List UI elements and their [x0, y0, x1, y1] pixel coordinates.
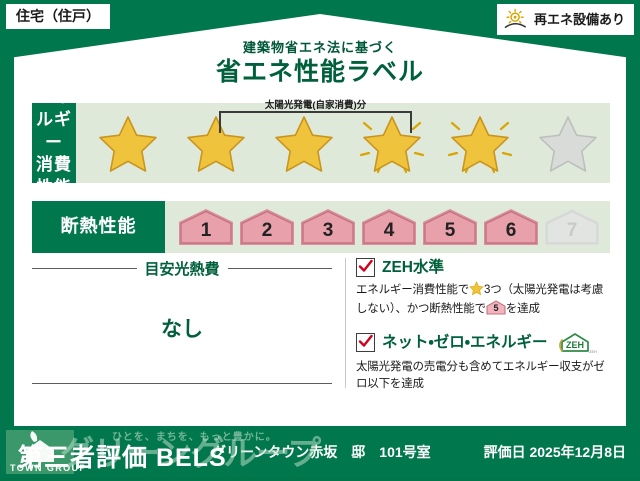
title-block: 建築物省エネ法に基づく 省エネ性能ラベル	[0, 40, 640, 88]
vertical-divider	[345, 258, 346, 388]
watermark-bels-text: 第三者評価 BELS	[18, 438, 227, 474]
sun-icon	[503, 8, 529, 30]
insulation-badge-number: 1	[201, 221, 212, 247]
energy-performance-key: エネルギー 消費性能	[32, 103, 76, 183]
zeh-desc-part3: を達成	[506, 303, 540, 315]
solar-caption: 太陽光発電(自家消費)分	[219, 97, 412, 111]
insulation-badge-active: 1	[177, 207, 235, 247]
cost-rule-left	[32, 268, 137, 269]
insulation-performance-value: 1234567	[165, 201, 610, 253]
insulation-badge-number: 3	[323, 221, 334, 247]
zeh-netzero-label: ネット・ゼロ・エネルギー	[382, 335, 548, 351]
insulation-badge-active: 3	[299, 207, 357, 247]
insulation-performance-row: 断熱性能 1234567	[32, 201, 610, 253]
cost-heading: 目安光熱費	[32, 258, 332, 279]
title-subtitle: 建築物省エネ法に基づく	[0, 40, 640, 56]
zeh-item-standard: ZEH水準 エネルギー消費性能で3つ（太陽光発電は考慮しない）、かつ断熱性能で5…	[356, 258, 614, 319]
energy-performance-label: 住宅（住戸） 再エネ設備あり 建築物省エネ法に基づく	[0, 0, 640, 478]
svg-text:ZEH: ZEH	[589, 349, 597, 354]
inline-star-icon	[469, 281, 484, 296]
star-filled	[86, 110, 170, 176]
inline-insulation-badge-icon: 5	[486, 300, 506, 315]
checkbox-checked-icon	[356, 258, 375, 277]
evaluation-date-value: 2025年12月8日	[529, 444, 626, 460]
zeh-logo-icon: ZEH ZEH	[557, 331, 597, 355]
zeh-standard-label: ZEH水準	[382, 260, 444, 276]
insulation-badge-number: 5	[445, 221, 456, 247]
energy-key-line1: エネルギー	[32, 86, 76, 155]
energy-key-line2: 消費性能	[32, 154, 76, 200]
insulation-badge-number: 6	[506, 221, 517, 247]
insulation-performance-key: 断熱性能	[32, 201, 165, 253]
insulation-badge-inactive: 7	[543, 207, 601, 247]
category-tag: 住宅（住戸）	[6, 4, 110, 29]
zeh-criteria-block: ZEH水準 エネルギー消費性能で3つ（太陽光発電は考慮しない）、かつ断熱性能で5…	[356, 258, 614, 406]
zeh-standard-title: ZEH水準	[356, 258, 614, 277]
cost-value: なし	[32, 313, 332, 343]
checkbox-checked-icon	[356, 333, 375, 352]
cost-bottom-rule	[32, 383, 332, 384]
page-title: 省エネ性能ラベル	[0, 57, 640, 88]
insulation-level-badges: 1234567	[165, 207, 601, 247]
insulation-badge-active: 6	[482, 207, 540, 247]
cost-rule-right	[228, 268, 333, 269]
zeh-standard-description: エネルギー消費性能で3つ（太陽光発電は考慮しない）、かつ断熱性能で5を達成	[356, 281, 614, 319]
cost-title: 目安光熱費	[145, 258, 220, 279]
renewable-equipment-badge: 再エネ設備あり	[497, 4, 634, 35]
zeh-netzero-title: ネット・ゼロ・エネルギー ZEH ZEH	[356, 331, 614, 355]
solar-bracket	[219, 111, 412, 133]
zeh-netzero-description: 太陽光発電の売電分も含めてエネルギー収支がゼロ以下を達成	[356, 359, 614, 395]
renewable-badge-label: 再エネ設備あり	[534, 13, 625, 26]
insulation-badge-number: 4	[384, 221, 395, 247]
star-filled	[438, 110, 522, 176]
energy-performance-value: 太陽光発電(自家消費)分	[76, 103, 610, 183]
estimated-utility-cost-block: 目安光熱費 なし	[32, 258, 332, 384]
insulation-badge-number: 7	[567, 221, 578, 247]
zeh-desc-part1: エネルギー消費性能で	[356, 284, 469, 296]
evaluation-date-label: 評価日	[484, 444, 526, 460]
insulation-badge-active: 5	[421, 207, 479, 247]
energy-performance-row: エネルギー 消費性能 太陽光発電(自家消費)分	[32, 103, 610, 183]
star-empty	[526, 110, 610, 176]
insulation-badge-active: 2	[238, 207, 296, 247]
zeh-item-net-zero: ネット・ゼロ・エネルギー ZEH ZEH 太陽光発電の売電分も含めてエネルギー収…	[356, 331, 614, 395]
evaluation-date: 評価日 2025年12月8日	[484, 442, 626, 462]
svg-text:ZEH: ZEH	[566, 340, 584, 350]
insulation-badge-active: 4	[360, 207, 418, 247]
insulation-badge-number: 2	[262, 221, 273, 247]
inline-badge-number: 5	[486, 300, 506, 315]
